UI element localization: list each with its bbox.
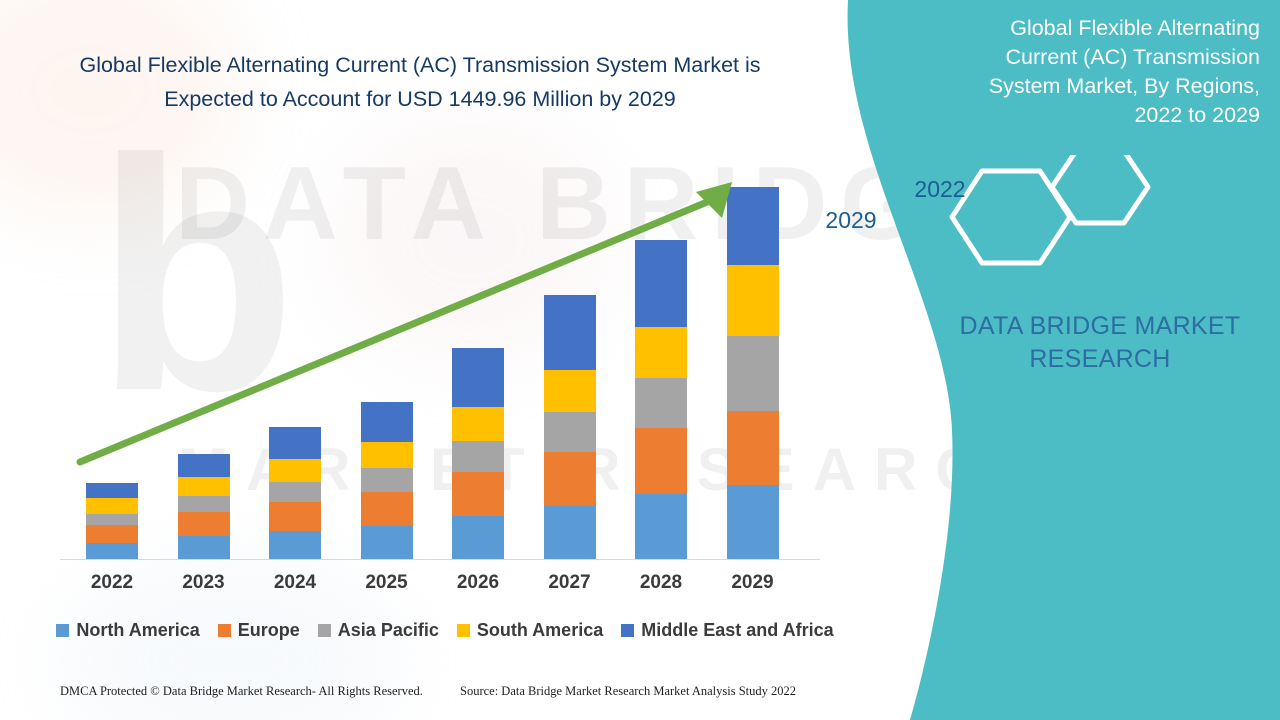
- bar-2025: [361, 402, 413, 558]
- bar-segment: [452, 472, 504, 516]
- bar-segment: [178, 536, 230, 558]
- brand-panel-content: Global Flexible Alternating Current (AC)…: [840, 0, 1280, 720]
- bar-segment: [269, 427, 321, 459]
- bar-segment: [86, 525, 138, 543]
- bar-segment: [361, 526, 413, 558]
- bar-segment: [361, 468, 413, 492]
- legend-swatch-icon: [56, 624, 69, 637]
- bar-segment: [727, 336, 779, 411]
- bar-segment: [86, 498, 138, 514]
- hexagon-badges: 2029 2022: [940, 155, 1260, 285]
- bar-segment: [269, 502, 321, 531]
- bar-segment: [452, 516, 504, 558]
- footer-copyright: DMCA Protected © Data Bridge Market Rese…: [60, 684, 423, 699]
- bar-segment: [727, 265, 779, 336]
- legend-swatch-icon: [218, 624, 231, 637]
- bar-segment: [269, 459, 321, 482]
- hexagon-label-2029: 2029: [691, 207, 1011, 234]
- infographic-canvas: b DATA BRIDGE MARKET RESEARCH Global Fle…: [0, 0, 1280, 720]
- bar-segment: [86, 483, 138, 498]
- bar-segment: [635, 327, 687, 378]
- legend-label: Asia Pacific: [338, 620, 439, 641]
- legend-swatch-icon: [318, 624, 331, 637]
- chart-x-axis-labels: 20222023202420252026202720282029: [60, 572, 820, 598]
- chart-x-axis-line: [60, 559, 820, 561]
- bar-segment: [361, 402, 413, 442]
- bar-segment: [544, 506, 596, 558]
- bar-segment: [178, 454, 230, 477]
- chart-legend: North AmericaEuropeAsia PacificSouth Ame…: [60, 617, 830, 643]
- page-title: Global Flexible Alternating Current (AC)…: [70, 48, 770, 116]
- legend-label: North America: [76, 620, 199, 641]
- legend-label: South America: [477, 620, 603, 641]
- x-axis-label-2029: 2029: [708, 572, 798, 594]
- bar-segment: [544, 452, 596, 506]
- bar-segment: [635, 240, 687, 327]
- bar-segment: [178, 512, 230, 536]
- bar-segment: [178, 477, 230, 496]
- bar-segment: [727, 485, 779, 558]
- x-axis-label-2023: 2023: [159, 572, 249, 594]
- legend-item[interactable]: South America: [457, 620, 603, 641]
- brand-name: DATA BRIDGE MARKET RESEARCH: [950, 310, 1250, 376]
- x-axis-label-2025: 2025: [342, 572, 432, 594]
- bar-segment: [635, 428, 687, 494]
- bar-segment: [86, 514, 138, 525]
- bar-segment: [727, 411, 779, 485]
- x-axis-label-2022: 2022: [67, 572, 157, 594]
- bar-segment: [544, 295, 596, 370]
- bar-segment: [361, 492, 413, 526]
- bar-segment: [86, 543, 138, 558]
- bar-segment: [544, 370, 596, 412]
- bar-segment: [361, 442, 413, 468]
- legend-item[interactable]: Middle East and Africa: [621, 620, 833, 641]
- bar-segment: [178, 496, 230, 512]
- bar-segment: [452, 441, 504, 472]
- legend-label: Europe: [238, 620, 300, 641]
- bar-segment: [635, 494, 687, 558]
- footer-source: Source: Data Bridge Market Research Mark…: [460, 684, 796, 699]
- bar-2028: [635, 240, 687, 559]
- bar-segment: [635, 378, 687, 428]
- bar-segment: [269, 531, 321, 558]
- legend-item[interactable]: Asia Pacific: [318, 620, 439, 641]
- legend-item[interactable]: North America: [56, 620, 199, 641]
- bar-2029: [727, 187, 779, 559]
- bar-segment: [452, 407, 504, 441]
- legend-swatch-icon: [621, 624, 634, 637]
- x-axis-label-2024: 2024: [250, 572, 340, 594]
- x-axis-label-2027: 2027: [525, 572, 615, 594]
- bar-2023: [178, 454, 230, 558]
- bar-2024: [269, 427, 321, 558]
- bar-2026: [452, 348, 504, 559]
- bar-segment: [452, 348, 504, 407]
- bar-2027: [544, 295, 596, 559]
- bar-segment: [544, 412, 596, 452]
- legend-label: Middle East and Africa: [641, 620, 833, 641]
- bar-2022: [86, 483, 138, 558]
- bar-segment: [269, 482, 321, 502]
- hexagon-label-2022: 2022: [780, 176, 1100, 203]
- x-axis-label-2026: 2026: [433, 572, 523, 594]
- x-axis-label-2028: 2028: [616, 572, 706, 594]
- legend-item[interactable]: Europe: [218, 620, 300, 641]
- legend-swatch-icon: [457, 624, 470, 637]
- panel-title: Global Flexible Alternating Current (AC)…: [960, 14, 1260, 130]
